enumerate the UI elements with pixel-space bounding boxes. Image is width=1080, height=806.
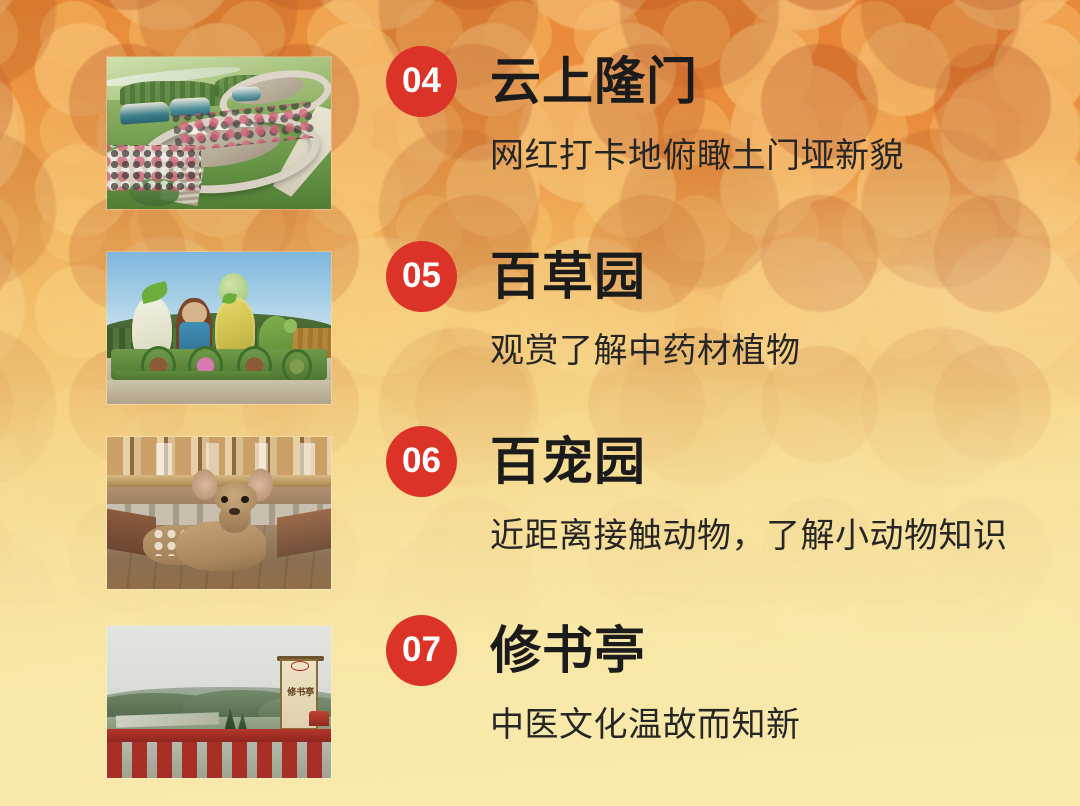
entry-text-column: 07 修书亭 中医文化温故而知新 bbox=[386, 611, 1080, 745]
entry-title: 百宠园 bbox=[490, 436, 646, 487]
poster-canvas: 04 云上隆门 网红打卡地俯瞰土门垭新貌 bbox=[0, 0, 1080, 806]
entry-text-column: 04 云上隆门 网红打卡地俯瞰土门垭新貌 bbox=[386, 42, 1080, 176]
deer-pen-photo bbox=[107, 437, 331, 589]
entry-title: 云上隆门 bbox=[490, 56, 698, 107]
entry-number-badge: 04 bbox=[386, 46, 457, 117]
entry-headline: 04 云上隆门 bbox=[386, 42, 1080, 120]
entry-subtitle: 近距离接触动物，了解小动物知识 bbox=[490, 517, 1080, 556]
list-item[interactable]: 06 百宠园 近距离接触动物，了解小动物知识 bbox=[0, 422, 1080, 608]
entry-number-badge: 06 bbox=[386, 426, 457, 497]
entry-headline: 05 百草园 bbox=[386, 237, 1080, 315]
pavilion-photo: 修书亭 bbox=[107, 626, 331, 778]
entry-text-column: 05 百草园 观赏了解中药材植物 bbox=[386, 237, 1080, 371]
entry-subtitle: 中医文化温故而知新 bbox=[490, 706, 1080, 745]
aerial-skywalk-photo bbox=[107, 57, 331, 209]
list-item[interactable]: 05 百草园 观赏了解中药材植物 bbox=[0, 237, 1080, 423]
list-item[interactable]: 04 云上隆门 网红打卡地俯瞰土门垭新貌 bbox=[0, 42, 1080, 228]
entry-number-badge: 07 bbox=[386, 615, 457, 686]
entry-number-badge: 05 bbox=[386, 241, 457, 312]
entry-text-column: 06 百宠园 近距离接触动物，了解小动物知识 bbox=[386, 422, 1080, 556]
entry-subtitle: 网红打卡地俯瞰土门垭新貌 bbox=[490, 137, 1080, 176]
list-item[interactable]: 修书亭 07 修书亭 中医文化温故而知新 bbox=[0, 611, 1080, 797]
entry-headline: 06 百宠园 bbox=[386, 422, 1080, 500]
entry-title: 修书亭 bbox=[490, 625, 646, 676]
entry-subtitle: 观赏了解中药材植物 bbox=[490, 332, 1080, 371]
entry-headline: 07 修书亭 bbox=[386, 611, 1080, 689]
entry-title: 百草园 bbox=[490, 251, 646, 302]
mascot-garden-photo bbox=[107, 252, 331, 404]
